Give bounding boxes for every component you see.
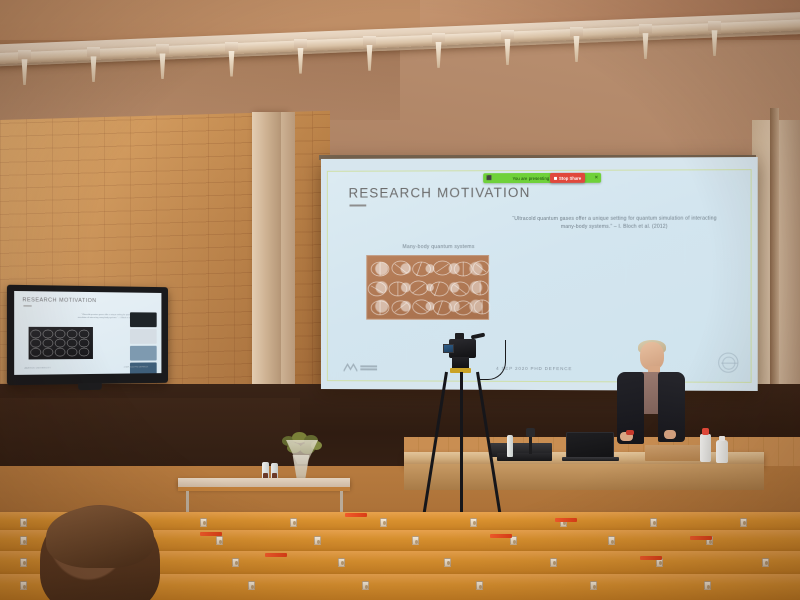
ceiling-lamp bbox=[87, 56, 100, 86]
bench-power-outlet[interactable] bbox=[550, 558, 557, 567]
monitor-footer-left: AARHUS UNIVERSITY bbox=[24, 367, 51, 369]
audio-mixer-base bbox=[497, 453, 552, 461]
monitor-footer-right: 4 SEP 2020 PHD DEFENCE bbox=[124, 366, 148, 368]
lamp-bracket bbox=[570, 27, 583, 37]
figure-caption: Many-body quantum systems bbox=[369, 244, 508, 250]
bench-power-outlet[interactable] bbox=[232, 558, 239, 567]
bench-power-outlet[interactable] bbox=[216, 536, 223, 545]
seat-distancing-marker bbox=[265, 553, 287, 557]
participant-tile-3[interactable] bbox=[130, 346, 157, 361]
bench-power-outlet[interactable] bbox=[762, 558, 769, 567]
bench-power-outlet[interactable] bbox=[444, 558, 451, 567]
seat-distancing-marker bbox=[690, 536, 712, 540]
lecture-hall-scene: RESEARCH MOTIVATION “Ultracold quantum g… bbox=[0, 0, 800, 600]
ceiling-lamp bbox=[18, 59, 31, 89]
spray-cap bbox=[702, 428, 709, 435]
stop-share-button[interactable]: Stop Share bbox=[550, 173, 585, 183]
slide-title: RESEARCH MOTIVATION bbox=[349, 185, 531, 201]
presenter-laptop-screen bbox=[566, 432, 614, 458]
bench-power-outlet[interactable] bbox=[290, 518, 297, 527]
side-monitor: RESEARCH MOTIVATION “Ultracold quantum g… bbox=[7, 285, 168, 386]
side-monitor-screen: RESEARCH MOTIVATION “Ultracold quantum g… bbox=[14, 291, 161, 375]
presenter-right-hand bbox=[664, 430, 676, 439]
monitor-slide-title: RESEARCH MOTIVATION bbox=[22, 297, 96, 304]
participant-tile-2[interactable] bbox=[130, 329, 157, 344]
aarhus-university-logo bbox=[344, 363, 378, 372]
participant-tile-1[interactable] bbox=[130, 312, 157, 327]
side-table-edge bbox=[178, 487, 350, 491]
bench-power-outlet[interactable] bbox=[740, 518, 747, 527]
au-wave-icon bbox=[344, 363, 358, 372]
camera-lcd-screen bbox=[443, 344, 454, 353]
bench-power-outlet[interactable] bbox=[200, 518, 207, 527]
ceiling-lamp bbox=[156, 53, 169, 83]
bench-power-outlet[interactable] bbox=[20, 558, 27, 567]
bench-power-outlet[interactable] bbox=[20, 518, 27, 527]
lamp-bracket bbox=[225, 42, 238, 52]
desk-water-bottle bbox=[507, 435, 513, 457]
lamp-bracket bbox=[363, 36, 376, 46]
presenter-laptop-base bbox=[562, 457, 619, 461]
seat-distancing-marker bbox=[490, 534, 512, 538]
lamp-cone bbox=[20, 59, 29, 85]
lamp-bracket bbox=[156, 44, 169, 54]
desk-front-panel bbox=[404, 464, 764, 490]
lamp-cone bbox=[89, 56, 98, 82]
monitor-stand bbox=[78, 383, 102, 390]
seat-distancing-marker bbox=[555, 518, 577, 522]
bench-power-outlet[interactable] bbox=[314, 536, 321, 545]
bench-power-outlet[interactable] bbox=[338, 558, 345, 567]
hand-sanitizer-pump bbox=[716, 440, 728, 463]
lamp-bracket bbox=[432, 33, 445, 43]
bench-power-outlet[interactable] bbox=[248, 581, 255, 590]
slide-footer-date: 4 SEP 2020 PHD DEFENCE bbox=[496, 366, 572, 371]
hand-sanitizer-spray bbox=[700, 434, 711, 462]
seat-distancing-marker bbox=[200, 532, 222, 536]
lamp-bracket bbox=[87, 47, 100, 57]
bench-power-outlet[interactable] bbox=[412, 536, 419, 545]
lamp-cone bbox=[365, 45, 374, 71]
monitor-lattice-image bbox=[29, 327, 93, 360]
slide-quote: “Ultracold quantum gases offer a unique … bbox=[512, 216, 717, 232]
bench-power-outlet[interactable] bbox=[380, 518, 387, 527]
monitor-slide-quote: “Ultracold quantum gases offer a unique … bbox=[77, 314, 138, 320]
ceiling-lamp bbox=[363, 45, 376, 75]
au-wordmark bbox=[360, 366, 377, 370]
lamp-cone bbox=[227, 51, 236, 77]
title-underline bbox=[349, 204, 366, 206]
lamp-cone bbox=[296, 48, 305, 74]
many-body-lattice-image bbox=[366, 255, 489, 320]
ceiling-lamp bbox=[225, 51, 238, 81]
ceiling-lamp bbox=[570, 36, 583, 66]
presentation-clicker bbox=[626, 430, 634, 435]
bench-power-outlet[interactable] bbox=[20, 581, 27, 590]
lattice-atoms-icon bbox=[367, 256, 490, 321]
projection-screen: RESEARCH MOTIVATION “Ultracold quantum g… bbox=[321, 157, 758, 391]
ceiling-lamp bbox=[294, 48, 307, 78]
ceiling-lamp bbox=[501, 39, 514, 69]
bench-power-outlet[interactable] bbox=[704, 581, 711, 590]
right-wall-edge bbox=[770, 108, 779, 428]
lamp-bracket bbox=[501, 30, 514, 40]
lamp-bracket bbox=[639, 24, 652, 34]
audience-member-hair bbox=[46, 506, 154, 568]
stop-share-label: Stop Share bbox=[559, 175, 581, 180]
ceiling-lamp bbox=[708, 30, 721, 60]
lamp-cone bbox=[503, 39, 512, 65]
institute-seal-icon bbox=[718, 353, 738, 373]
bench-power-outlet[interactable] bbox=[608, 536, 615, 545]
wall-pillar-secondary bbox=[281, 112, 295, 412]
participant-tile-4[interactable] bbox=[130, 362, 157, 375]
lamp-cone bbox=[710, 30, 719, 56]
lamp-bracket bbox=[18, 50, 31, 60]
bench-power-outlet[interactable] bbox=[362, 581, 369, 590]
bench-power-outlet[interactable] bbox=[650, 518, 657, 527]
lamp-cone bbox=[572, 36, 581, 62]
seat-distancing-marker bbox=[345, 513, 367, 517]
tripod-leg-center bbox=[460, 372, 463, 524]
pump-cap bbox=[719, 436, 725, 441]
ceiling-lamp bbox=[432, 42, 445, 72]
ceiling-lamp bbox=[639, 33, 652, 63]
monitor-title-underline bbox=[23, 305, 31, 306]
seat-distancing-marker bbox=[640, 556, 662, 560]
monitor-lattice-icon bbox=[29, 327, 93, 360]
presentation-slide: RESEARCH MOTIVATION “Ultracold quantum g… bbox=[327, 169, 752, 383]
cardboard-box bbox=[645, 445, 703, 461]
bench-power-outlet[interactable] bbox=[20, 536, 27, 545]
bench-power-outlet[interactable] bbox=[470, 518, 477, 527]
lamp-bracket bbox=[294, 39, 307, 49]
bench-power-outlet[interactable] bbox=[476, 581, 483, 590]
bench-power-outlet[interactable] bbox=[590, 581, 597, 590]
stop-square-icon bbox=[554, 176, 557, 179]
microphone-head bbox=[526, 428, 535, 437]
lamp-cone bbox=[434, 42, 443, 68]
lamp-bracket bbox=[708, 21, 721, 31]
lamp-cone bbox=[641, 33, 650, 59]
lamp-cone bbox=[158, 53, 167, 79]
close-icon[interactable]: ✕ bbox=[594, 175, 598, 181]
